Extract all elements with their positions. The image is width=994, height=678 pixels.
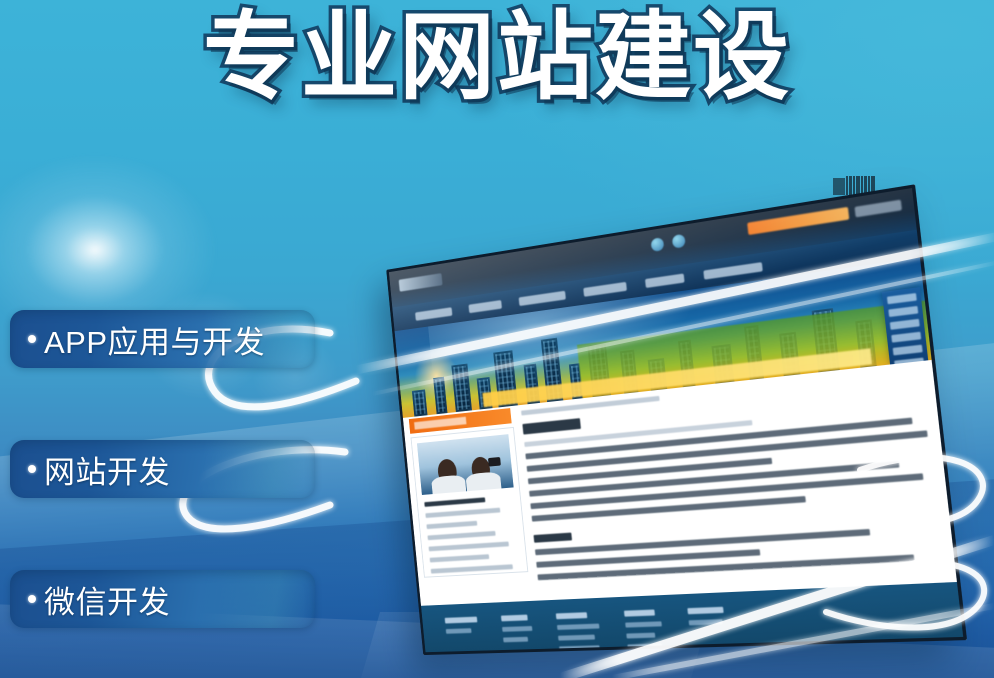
footer-column-3 — [556, 612, 606, 655]
topbar-user-icon — [651, 237, 665, 252]
nav-item-5[interactable] — [645, 273, 685, 288]
feature-pill-app[interactable]: APP应用与开发 — [10, 310, 315, 368]
people-photo — [417, 434, 514, 495]
feature-pill-label: APP应用与开发 — [44, 317, 265, 362]
topbar-promo-text — [747, 207, 849, 235]
site-logo-icon — [399, 273, 443, 292]
topbar-login-link[interactable] — [855, 200, 902, 218]
page-title: 专业网站建设 — [0, 8, 994, 109]
feature-pill-label: 网站开发 — [44, 447, 170, 492]
footer-column-1 — [445, 617, 485, 655]
article-title — [522, 418, 581, 434]
monitor-screen — [386, 184, 967, 655]
footer-column-2 — [501, 614, 539, 655]
bullet-icon — [28, 595, 36, 603]
article-subheading — [534, 533, 573, 543]
bullet-icon — [28, 465, 36, 473]
feature-pill-website[interactable]: 网站开发 — [10, 440, 315, 498]
footer-column-4 — [624, 609, 669, 655]
sidebar-text-lines — [424, 495, 520, 580]
nav-item-4[interactable] — [583, 281, 627, 296]
feature-pill-wechat[interactable]: 微信开发 — [10, 570, 315, 628]
nav-item-6[interactable] — [703, 262, 762, 280]
nav-item-3[interactable] — [519, 290, 566, 305]
topbar-cart-icon — [672, 234, 686, 249]
feature-pill-label: 微信开发 — [44, 577, 170, 622]
website-mockup — [386, 184, 967, 655]
bullet-icon — [28, 335, 36, 343]
article-body — [521, 367, 946, 580]
nav-item-2[interactable] — [468, 300, 501, 313]
nav-item-1[interactable] — [415, 307, 452, 321]
sidebar-card — [411, 427, 529, 578]
poster-canvas: 专业网站建设 — [0, 0, 994, 678]
